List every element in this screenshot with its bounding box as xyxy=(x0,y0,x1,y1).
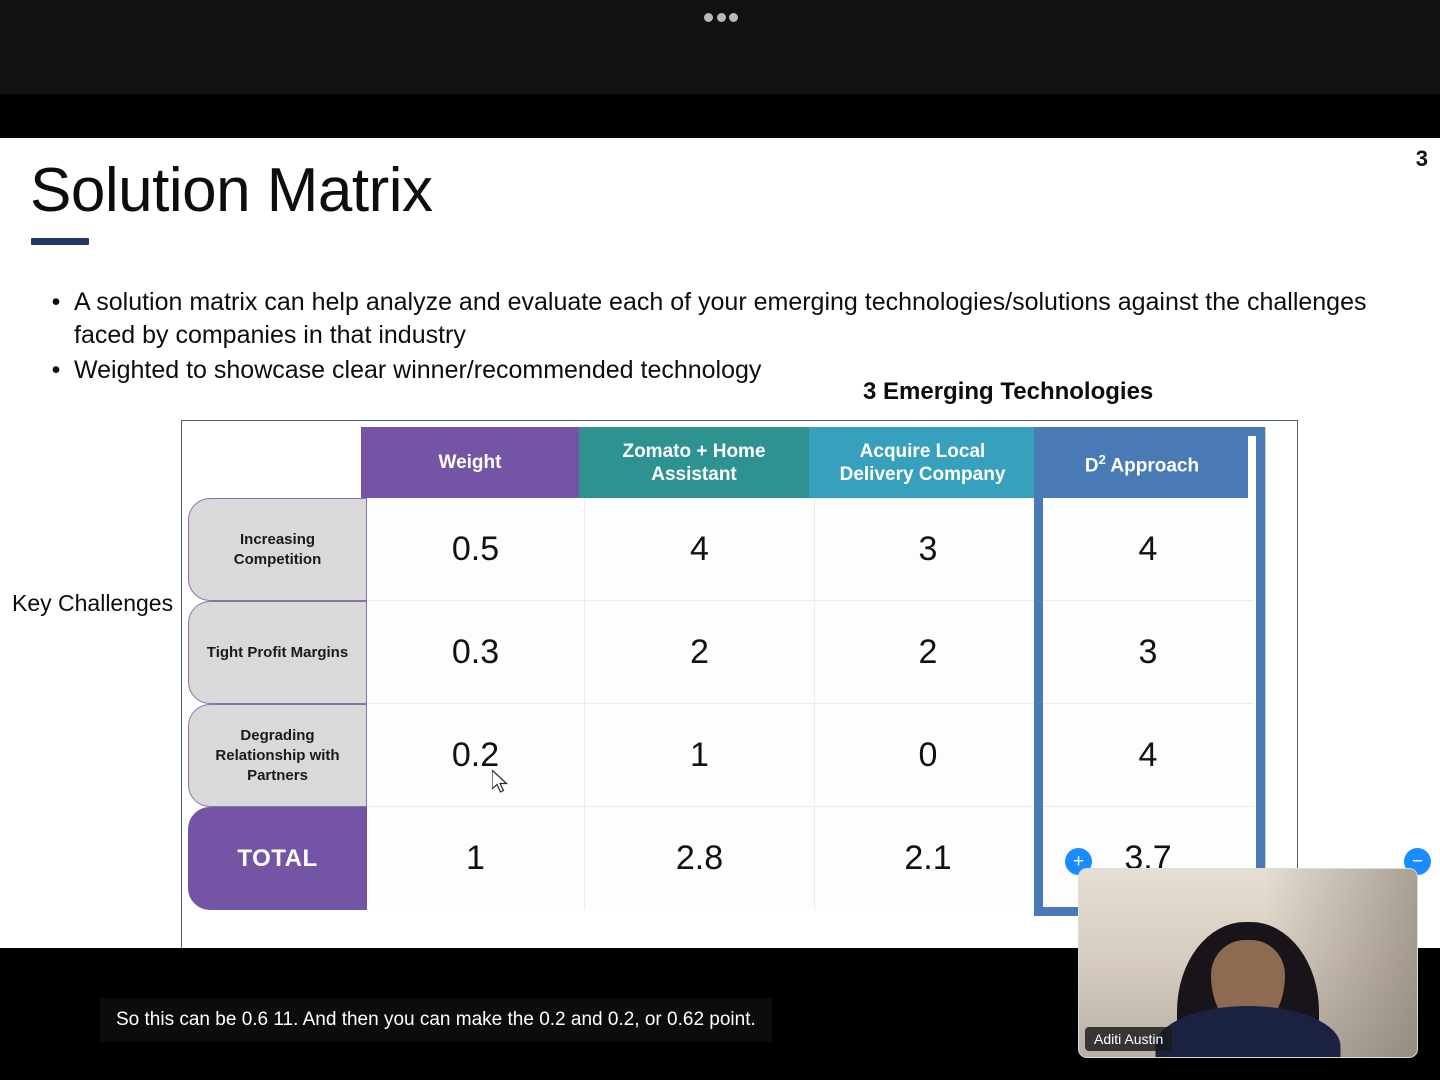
overflow-dots-icon[interactable] xyxy=(704,10,738,24)
list-item: • Weighted to showcase clear winner/reco… xyxy=(38,354,1378,387)
cell-acquire-r2: 0 xyxy=(815,704,1042,807)
bullet-text: Weighted to showcase clear winner/recomm… xyxy=(74,354,1378,387)
list-item: • A solution matrix can help analyze and… xyxy=(38,286,1378,352)
slide-canvas: 3 Solution Matrix • A solution matrix ca… xyxy=(0,138,1440,948)
participant-video-tile[interactable]: Aditi Austin xyxy=(1078,868,1418,1058)
column-header-weight: Weight xyxy=(361,427,579,498)
bullet-marker-icon: • xyxy=(38,354,74,387)
participant-name-label: Aditi Austin xyxy=(1085,1027,1172,1051)
cell-zomato-total: 2.8 xyxy=(585,807,815,910)
header-line-1: Zomato + Home xyxy=(622,441,765,462)
table-row: Increasing Competition 0.5 4 3 4 xyxy=(182,498,1297,601)
table-body: Increasing Competition 0.5 4 3 4 Tight P… xyxy=(182,498,1297,916)
column-header-zomato-home-assistant: Zomato + HomeAssistant xyxy=(579,427,809,498)
bullet-list: • A solution matrix can help analyze and… xyxy=(38,286,1378,389)
table-row: Tight Profit Margins 0.3 2 2 3 xyxy=(182,601,1297,704)
bullet-marker-icon: • xyxy=(38,286,74,319)
cell-weight-r1: 0.3 xyxy=(367,601,585,704)
cell-acquire-total: 2.1 xyxy=(815,807,1042,910)
cell-zomato-r1: 2 xyxy=(585,601,815,704)
cell-weight-r0: 0.5 xyxy=(367,498,585,601)
header-d-superscript: 2 xyxy=(1099,452,1106,467)
cell-d2-r1: 3 xyxy=(1042,601,1254,704)
mouse-cursor-icon xyxy=(492,770,510,794)
cell-acquire-r1: 2 xyxy=(815,601,1042,704)
table-header-row: Weight Zomato + HomeAssistant Acquire Lo… xyxy=(361,427,1248,498)
row-label-increasing-competition: Increasing Competition xyxy=(188,498,367,601)
table-right-margin-strip xyxy=(1265,427,1297,916)
column-header-acquire-local-delivery: Acquire LocalDelivery Company xyxy=(809,427,1036,498)
cell-weight-r2: 0.2 xyxy=(367,704,585,807)
caption-text: So this can be 0.6 11. And then you can … xyxy=(100,998,772,1042)
cell-d2-r2: 4 xyxy=(1042,704,1254,807)
page-title: Solution Matrix xyxy=(30,158,433,223)
header-line-2: Assistant xyxy=(651,464,737,485)
row-label-tight-profit-margins: Tight Profit Margins xyxy=(188,601,367,704)
header-line-2: Delivery Company xyxy=(840,464,1006,485)
page-number: 3 xyxy=(1416,146,1428,172)
header-d-rest: Approach xyxy=(1106,455,1199,476)
header-line-1: Acquire Local xyxy=(860,441,986,462)
row-label-total: TOTAL xyxy=(188,807,367,910)
cell-weight-total: 1 xyxy=(367,807,585,910)
key-challenges-label: Key Challenges xyxy=(12,590,173,617)
header-d-base: D xyxy=(1085,455,1099,476)
title-underline-rule xyxy=(31,238,89,245)
cell-acquire-r0: 3 xyxy=(815,498,1042,601)
top-chrome-bar xyxy=(0,0,1440,94)
emerging-technologies-label: 3 Emerging Technologies xyxy=(863,378,1153,406)
column-header-d2-approach: D2 Approach xyxy=(1036,427,1248,498)
table-row: Degrading Relationship with Partners 0.2… xyxy=(182,704,1297,807)
row-label-degrading-relationship: Degrading Relationship with Partners xyxy=(188,704,367,807)
screen-root: 3 Solution Matrix • A solution matrix ca… xyxy=(0,0,1440,1080)
bullet-text: A solution matrix can help analyze and e… xyxy=(74,286,1378,352)
cell-zomato-r0: 4 xyxy=(585,498,815,601)
cell-zomato-r2: 1 xyxy=(585,704,815,807)
cell-d2-r0: 4 xyxy=(1042,498,1254,601)
letterbox-bar-top xyxy=(0,94,1440,138)
